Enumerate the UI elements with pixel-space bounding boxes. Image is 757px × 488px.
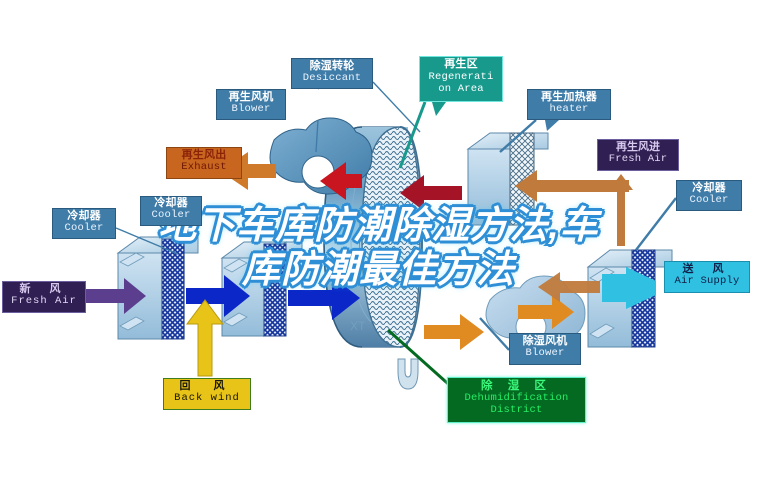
label-air-supply: 送 风 Air Supply (664, 261, 750, 293)
arrow-back-wind-up (187, 300, 223, 376)
label-en: Dehumidification District (448, 392, 585, 416)
label-cn: 再生风进 (598, 142, 678, 154)
label-en: Fresh Air (3, 296, 85, 307)
label-cn: 除湿转轮 (292, 61, 372, 73)
label-regeneration-fresh-air: 再生风进 Fresh Air (597, 139, 679, 171)
label-cn: 再生风机 (217, 92, 285, 104)
label-back-wind: 回 风 Back wind (163, 378, 251, 410)
arrow-process-to-blower (424, 314, 484, 350)
label-cn: 再生风出 (167, 150, 241, 162)
label-en: Desiccant (292, 73, 372, 84)
label-cooler-left: 冷却器 Cooler (52, 208, 116, 239)
label-en: Back wind (164, 393, 250, 404)
label-cooler-right: 冷却器 Cooler (676, 180, 742, 211)
label-cn: 冷却器 (53, 211, 115, 223)
label-en: Cooler (53, 223, 115, 234)
label-en: Regenerati on Area (420, 71, 502, 95)
label-regeneration-heater: 再生加热器 heater (527, 89, 611, 120)
label-regeneration-blower: 再生风机 Blower (216, 89, 286, 120)
label-cn: 再生加热器 (528, 92, 610, 104)
label-en: Blower (510, 348, 580, 359)
label-en: Cooler (677, 195, 741, 206)
title-line-2: 库防潮最佳方法 (0, 248, 757, 292)
label-cn: 回 风 (164, 381, 250, 393)
label-cn: 除湿风机 (510, 336, 580, 348)
label-fresh-air-intake: 新 风 Fresh Air (2, 281, 86, 313)
label-cn: 冷却器 (141, 198, 201, 210)
label-cn: 新 风 (3, 284, 85, 296)
label-cn: 送 风 (665, 264, 749, 276)
label-dehumidification-district: 除 湿 区 Dehumidification District (447, 377, 586, 423)
svg-text:XT: XT (350, 319, 366, 333)
label-en: Exhaust (167, 162, 241, 173)
label-cn: 再生区 (420, 59, 502, 71)
label-en: Blower (217, 104, 285, 115)
label-en: Cooler (141, 210, 201, 221)
label-desiccant-rotor: 除湿转轮 Desiccant (291, 58, 373, 89)
label-en: heater (528, 104, 610, 115)
label-dehumidification-blower: 除湿风机 Blower (509, 333, 581, 365)
label-en: Air Supply (665, 276, 749, 287)
label-en: Fresh Air (598, 154, 678, 165)
dehumidifier-diagram: XT (0, 0, 757, 488)
label-cooler-mid: 冷却器 Cooler (140, 196, 202, 226)
label-cn: 冷却器 (677, 183, 741, 195)
label-cn: 除 湿 区 (448, 380, 585, 392)
label-regeneration-area: 再生区 Regenerati on Area (419, 56, 503, 102)
label-exhaust: 再生风出 Exhaust (166, 147, 242, 179)
